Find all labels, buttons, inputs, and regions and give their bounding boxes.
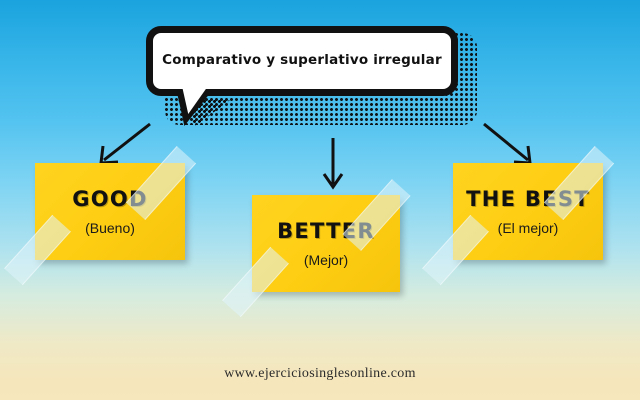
note-better-spanish: (Mejor): [304, 252, 348, 268]
note-the-best-spanish: (El mejor): [498, 220, 559, 236]
note-the-best-english: THE BEST: [466, 187, 590, 211]
note-good-content: GOOD (Bueno): [35, 163, 185, 260]
footer-website-url: www.ejerciciosinglesonline.com: [0, 366, 640, 382]
note-the-best-content: THE BEST (El mejor): [453, 163, 603, 260]
speech-bubble: Comparativo y superlativo irregular: [146, 26, 458, 96]
note-good-spanish: (Bueno): [85, 220, 135, 236]
page-title: Comparativo y superlativo irregular: [146, 26, 458, 96]
note-better-english: BETTER: [277, 219, 375, 243]
infographic-canvas: Comparativo y superlativo irregular GOOD…: [0, 0, 640, 400]
note-card-the-best: THE BEST (El mejor): [453, 163, 603, 260]
note-card-better: BETTER (Mejor): [252, 195, 400, 292]
arrow-to-better-icon: [320, 136, 352, 194]
note-good-english: GOOD: [72, 187, 148, 211]
note-card-good: GOOD (Bueno): [35, 163, 185, 260]
note-better-content: BETTER (Mejor): [252, 195, 400, 292]
